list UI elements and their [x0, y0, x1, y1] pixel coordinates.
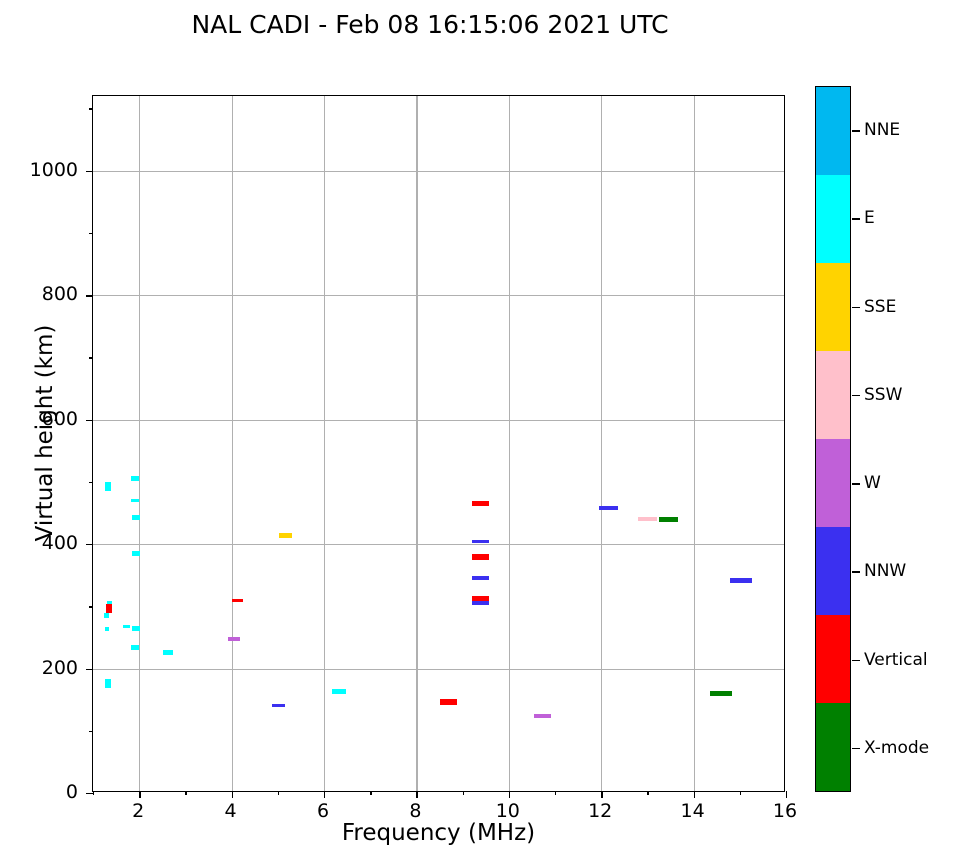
data-point	[272, 704, 285, 707]
y-axis-tick-label: 0	[0, 781, 78, 803]
y-axis-minor-tick	[89, 108, 93, 109]
data-point	[228, 637, 240, 641]
y-axis-minor-tick	[89, 233, 93, 234]
colorbar-label-e: E	[864, 208, 875, 228]
colorbar-segment	[816, 527, 850, 615]
data-point	[472, 540, 489, 543]
gridline-vertical	[694, 96, 695, 791]
x-axis-minor-tick	[463, 791, 464, 795]
y-axis-label: Virtual height (km)	[32, 273, 58, 593]
data-point	[710, 691, 732, 696]
ionogram-figure: NAL CADI - Feb 08 16:15:06 2021 UTC 2468…	[0, 0, 958, 857]
data-point	[332, 689, 346, 694]
y-axis-tick-label: 200	[0, 657, 78, 679]
x-axis-tick	[786, 791, 787, 798]
colorbar-tick	[852, 571, 860, 572]
colorbar-label-vertical: Vertical	[864, 650, 928, 670]
gridline-horizontal	[93, 295, 784, 296]
gridline-horizontal	[93, 420, 784, 421]
x-axis-tick-label: 6	[317, 800, 329, 822]
x-axis-minor-tick	[555, 791, 556, 795]
colorbar-label-nne: NNE	[864, 120, 900, 140]
colorbar-segment	[816, 263, 850, 351]
colorbar-tick	[852, 660, 860, 661]
data-point	[472, 596, 489, 601]
x-axis-tick-label: 16	[773, 800, 797, 822]
gridline-vertical	[232, 96, 233, 791]
colorbar-segment	[816, 439, 850, 527]
x-axis-label: Frequency (MHz)	[92, 820, 785, 846]
data-point	[105, 627, 109, 631]
y-axis-tick	[86, 420, 93, 421]
x-axis-minor-tick	[370, 791, 371, 795]
colorbar-tick	[852, 307, 860, 308]
data-point	[105, 482, 111, 491]
gridline-horizontal	[93, 669, 784, 670]
colorbar-tick	[852, 748, 860, 749]
data-point	[132, 515, 140, 520]
colorbar-label-x-mode: X-mode	[864, 738, 929, 758]
colorbar-tick	[852, 218, 860, 219]
page-title: NAL CADI - Feb 08 16:15:06 2021 UTC	[0, 10, 860, 39]
x-axis-tick-label: 4	[225, 800, 237, 822]
plot-area	[92, 95, 785, 792]
colorbar-tick	[852, 395, 860, 396]
x-axis-tick	[694, 791, 695, 798]
data-point	[132, 551, 140, 556]
gridline-vertical	[416, 96, 417, 791]
colorbar-label-ssw: SSW	[864, 385, 902, 405]
gridline-horizontal	[93, 171, 784, 172]
data-point	[132, 626, 140, 631]
x-axis-minor-tick	[93, 791, 94, 795]
data-point	[131, 476, 139, 481]
colorbar	[815, 86, 851, 792]
y-axis-minor-tick	[89, 357, 93, 358]
colorbar-segment	[816, 175, 850, 263]
data-point	[472, 576, 489, 580]
y-axis-tick	[86, 669, 93, 670]
colorbar-label-w: W	[864, 473, 881, 493]
x-axis-minor-tick	[278, 791, 279, 795]
x-axis-tick	[509, 791, 510, 798]
data-point	[104, 613, 109, 618]
y-axis-tick	[86, 171, 93, 172]
x-axis-tick	[139, 791, 140, 798]
data-point	[131, 499, 139, 502]
data-point	[730, 578, 752, 583]
x-axis-tick	[601, 791, 602, 798]
data-point	[163, 650, 173, 655]
y-axis-minor-tick	[89, 482, 93, 483]
colorbar-tick	[852, 483, 860, 484]
data-point	[440, 699, 457, 705]
x-axis-minor-tick	[185, 791, 186, 795]
colorbar-segment	[816, 615, 850, 703]
x-axis-minor-tick	[647, 791, 648, 795]
y-axis-tick	[86, 544, 93, 545]
x-axis-minor-tick	[740, 791, 741, 795]
x-axis-tick	[324, 791, 325, 798]
data-point	[472, 501, 489, 506]
data-point	[123, 625, 130, 628]
x-axis-tick	[232, 791, 233, 798]
data-point	[638, 517, 657, 521]
data-point	[599, 506, 618, 510]
data-point	[472, 554, 489, 560]
data-point	[534, 714, 551, 718]
data-point	[279, 533, 292, 538]
y-axis-tick-label: 1000	[0, 159, 78, 181]
y-axis-minor-tick	[89, 731, 93, 732]
colorbar-segment	[816, 351, 850, 439]
y-axis-minor-tick	[89, 606, 93, 607]
colorbar-label-nnw: NNW	[864, 561, 906, 581]
x-axis-tick	[416, 791, 417, 798]
gridline-vertical	[509, 96, 510, 791]
gridline-horizontal	[93, 544, 784, 545]
colorbar-label-sse: SSE	[864, 297, 896, 317]
x-axis-tick-label: 10	[496, 800, 520, 822]
data-point	[106, 604, 112, 613]
data-point	[472, 601, 489, 605]
data-point	[659, 517, 678, 522]
colorbar-segment	[816, 703, 850, 791]
x-axis-tick-label: 8	[409, 800, 421, 822]
x-axis-tick-label: 14	[681, 800, 705, 822]
data-point	[131, 645, 139, 650]
data-point	[105, 679, 111, 688]
colorbar-tick	[852, 130, 860, 131]
gridline-vertical	[139, 96, 140, 791]
x-axis-tick-label: 2	[132, 800, 144, 822]
y-axis-tick	[86, 295, 93, 296]
y-axis-tick	[86, 793, 93, 794]
colorbar-segment	[816, 87, 850, 175]
data-point	[232, 599, 243, 602]
x-axis-tick-label: 12	[588, 800, 612, 822]
gridline-vertical	[601, 96, 602, 791]
gridline-vertical	[324, 96, 325, 791]
